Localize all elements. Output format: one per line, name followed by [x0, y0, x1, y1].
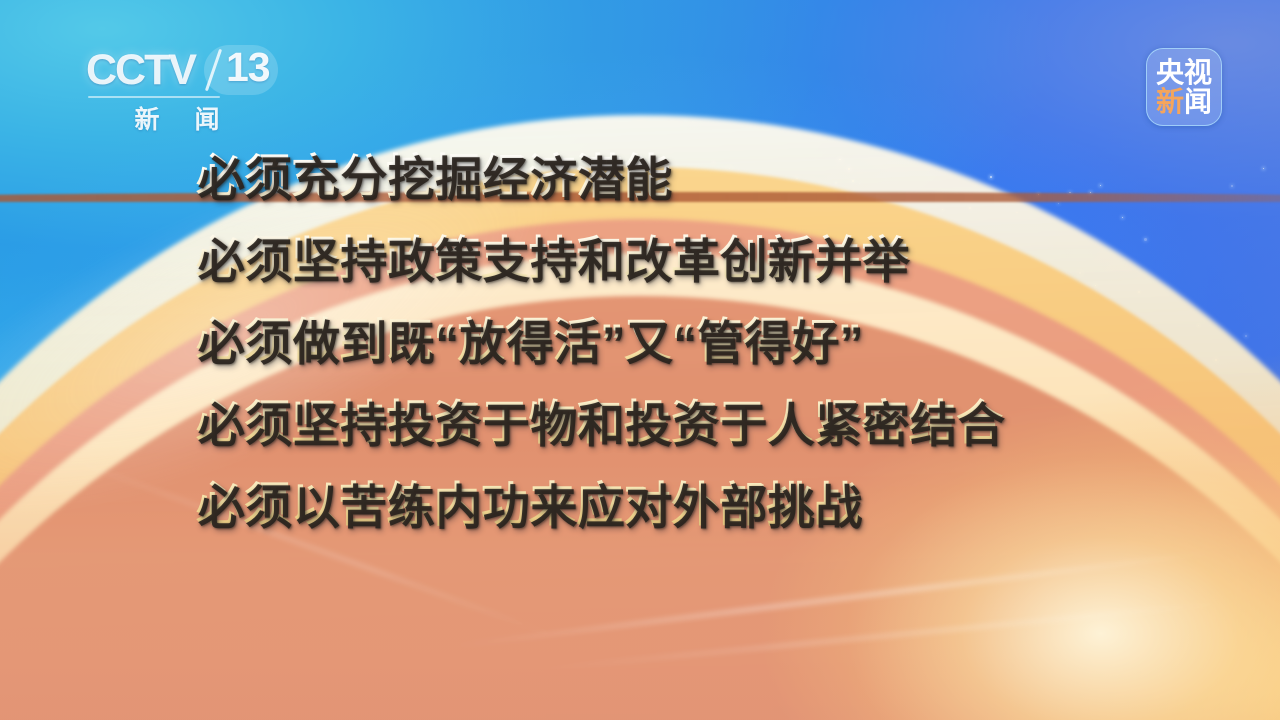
glitter-dot	[75, 601, 76, 602]
glitter-dot	[98, 579, 100, 581]
cctv-wordmark: CCTV	[86, 49, 195, 92]
sparkle-dot	[782, 572, 783, 573]
glitter-dot	[64, 613, 65, 614]
cctv-13-logo: CCTV 13 新 闻	[86, 46, 266, 132]
glitter-dot	[162, 537, 163, 538]
sparkle-dot	[682, 566, 683, 567]
sparkle-dot	[1020, 553, 1021, 554]
cctv-channel-subtitle: 新 闻	[112, 100, 242, 136]
glitter-dot	[127, 571, 128, 572]
headline-line-3: 必须做到既“放得活”又“管得好”	[196, 300, 1196, 382]
glitter-dot	[10, 642, 11, 643]
glitter-dot	[178, 533, 179, 534]
glitter-dot	[40, 617, 41, 618]
glitter-dot	[21, 630, 22, 631]
sparkle-dot	[1215, 359, 1217, 361]
glitter-dot	[35, 620, 36, 621]
badge-text-xin: 新	[1156, 88, 1184, 116]
glitter-dot	[42, 625, 44, 627]
sparkle-dot	[1263, 168, 1264, 169]
sparkle-dot	[833, 565, 834, 566]
sparkle-dot	[1245, 335, 1247, 337]
cctv-news-badge: 央视 新 闻	[1146, 48, 1222, 126]
badge-text-yangshi: 央视	[1156, 59, 1212, 87]
sparkle-dot	[799, 547, 801, 549]
glitter-dot	[75, 609, 76, 610]
glitter-dot	[98, 574, 99, 575]
glitter-dot	[3, 654, 4, 655]
glitter-dot	[153, 550, 154, 551]
glitter-dot	[171, 544, 173, 546]
glitter-dot	[140, 545, 141, 546]
headline-line-1: 必须充分挖掘经济潜能	[196, 136, 1196, 218]
glitter-dot	[98, 590, 99, 591]
glitter-dot	[40, 622, 42, 624]
glitter-dot	[179, 536, 180, 537]
sparkle-dot	[1164, 573, 1165, 574]
sparkle-dot	[991, 554, 993, 556]
sparkle-dot	[1198, 325, 1199, 326]
glitter-dot	[170, 524, 171, 525]
glitter-dot	[8, 653, 9, 654]
glitter-dot	[124, 576, 125, 577]
glitter-dot	[105, 588, 106, 589]
glitter-dot	[66, 593, 67, 594]
sparkle-dot	[974, 556, 977, 559]
broadcast-graphic-frame: CCTV 13 新 闻 央视 新 闻 必须充分挖掘经济潜能 必须坚持政策支持和改…	[0, 0, 1280, 720]
badge-line-top: 央视	[1156, 59, 1212, 87]
badge-line-bottom: 新 闻	[1156, 88, 1212, 116]
cctv-logo-row: CCTV 13	[86, 46, 266, 94]
headline-line-2: 必须坚持政策支持和改革创新并举	[196, 218, 1196, 300]
glitter-dot	[97, 591, 98, 592]
glitter-dot	[130, 573, 131, 574]
headline-line-5: 必须以苦练内功来应对外部挑战	[196, 464, 1196, 546]
glitter-dot	[27, 638, 28, 639]
cctv-channel-number: 13	[226, 47, 270, 88]
sparkle-dot	[649, 549, 652, 552]
glitter-dot	[127, 570, 128, 571]
glitter-dot	[22, 635, 23, 636]
light-streak-lower	[514, 600, 1253, 673]
glitter-dot	[29, 620, 30, 621]
sparkle-dot	[688, 555, 689, 556]
cctv-underline-rule	[88, 96, 220, 98]
glitter-dot	[57, 604, 59, 606]
glitter-dot	[145, 560, 146, 561]
sparkle-dot	[686, 560, 689, 563]
glitter-dot	[169, 549, 170, 550]
sparkle-dot	[1231, 185, 1233, 187]
glitter-dot	[95, 571, 96, 572]
glitter-dot	[95, 572, 96, 573]
headline-block: 必须充分挖掘经济潜能 必须坚持政策支持和改革创新并举 必须做到既“放得活”又“管…	[196, 136, 1196, 546]
headline-line-4: 必须坚持投资于物和投资于人紧密结合	[196, 382, 1196, 464]
sparkle-dot	[681, 552, 682, 553]
glitter-dot	[15, 642, 16, 643]
light-streak-upper	[438, 550, 1226, 650]
sparkle-dot	[742, 551, 743, 552]
glitter-dot	[52, 606, 53, 607]
sparkle-dot	[920, 559, 921, 560]
glitter-dot	[157, 556, 158, 557]
badge-text-wen: 闻	[1184, 88, 1212, 116]
glitter-dot	[48, 617, 49, 618]
